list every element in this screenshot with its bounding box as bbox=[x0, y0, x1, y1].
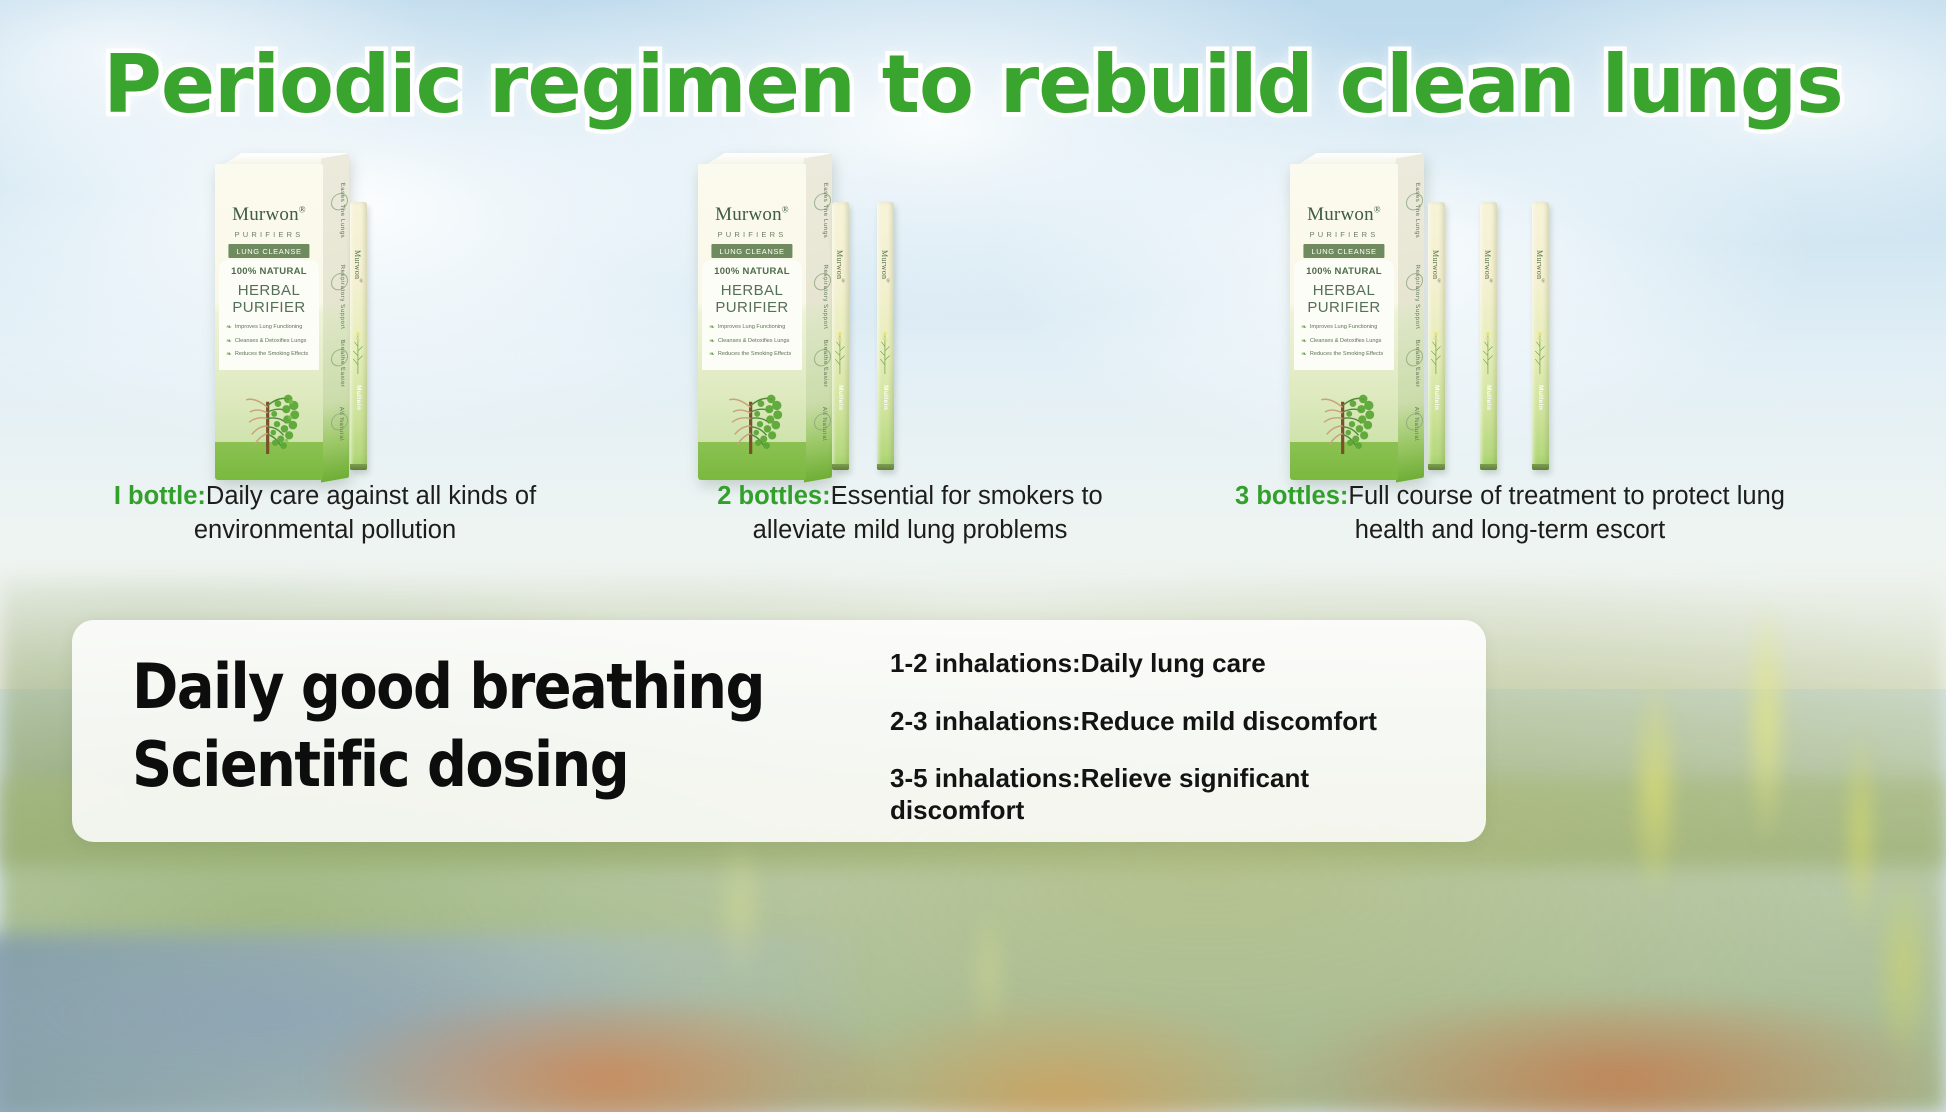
product-groups-row: Eases The Lungs Respiratory Support Brea… bbox=[0, 150, 1946, 590]
carton-product-line1: HERBAL bbox=[1290, 282, 1398, 299]
carton-side-face: Eases The Lungs Respiratory Support Brea… bbox=[321, 154, 349, 483]
herb-sprig-icon bbox=[1429, 328, 1443, 374]
carton-bullet-text: Improves Lung Functioning bbox=[235, 324, 302, 332]
herb-sprig-icon bbox=[351, 328, 365, 374]
carton-bullet-text: Reduces the Smoking Effects bbox=[1310, 351, 1383, 359]
dosing-item: 3-5 inhalations:Relieve significant disc… bbox=[890, 763, 1450, 826]
stick-herb-name: Mullein bbox=[1485, 385, 1492, 410]
leaf-icon: ❧ bbox=[709, 351, 715, 359]
lung-tree-illustration-icon bbox=[704, 370, 797, 454]
carton-bullet: ❧Improves Lung Functioning bbox=[709, 324, 799, 332]
carton-product-line2: PURIFIER bbox=[698, 299, 806, 316]
registered-mark-icon: ® bbox=[359, 279, 364, 284]
registered-mark-icon: ® bbox=[886, 279, 891, 284]
product-carton[interactable]: Eases The Lungs Respiratory Support Brea… bbox=[1290, 164, 1398, 480]
registered-mark-icon: ® bbox=[1437, 279, 1442, 284]
dosing-list: 1-2 inhalations:Daily lung care 2-3 inha… bbox=[890, 648, 1450, 827]
carton-bullet: ❧Reduces the Smoking Effects bbox=[1301, 351, 1391, 359]
carton-front-face: Murwon® PURIFIERS LUNG CLEANSE 100% NATU… bbox=[698, 164, 806, 480]
lung-tree-illustration-icon bbox=[221, 370, 314, 454]
registered-mark-icon: ® bbox=[299, 205, 306, 215]
herb-sprig-icon bbox=[1481, 328, 1495, 374]
carton-natural-claim: 100% NATURAL bbox=[215, 266, 323, 277]
stick-brand-text: Murwon bbox=[880, 250, 889, 279]
group-caption: 2 bottles:Essential for smokers to allev… bbox=[680, 480, 1140, 548]
stick-brand: Murwon® bbox=[353, 250, 364, 285]
carton-side-face: Eases The Lungs Respiratory Support Brea… bbox=[1396, 154, 1424, 483]
carton-brand-text: Murwon bbox=[715, 204, 782, 225]
stick-herb-name: Mullein bbox=[1537, 385, 1544, 410]
leaf-icon: ❧ bbox=[226, 351, 232, 359]
inhaler-stick[interactable]: Murwon® Mullein bbox=[350, 202, 367, 470]
inhaler-stick[interactable]: Murwon® Mullein bbox=[832, 202, 849, 470]
group-count-label: I bottle: bbox=[114, 482, 206, 510]
carton-bullet: ❧Cleanses & Detoxifies Lungs bbox=[709, 338, 799, 346]
carton-side-label: Eases The Lungs bbox=[1414, 182, 1420, 239]
carton-brand: Murwon® bbox=[1290, 204, 1398, 226]
product-stage: Eases The Lungs Respiratory Support Brea… bbox=[680, 150, 1140, 480]
carton-product-line1: HERBAL bbox=[215, 282, 323, 299]
product-carton[interactable]: Eases The Lungs Respiratory Support Brea… bbox=[215, 164, 323, 480]
carton-front-face: Murwon® PURIFIERS LUNG CLEANSE 100% NATU… bbox=[1290, 164, 1398, 480]
carton-bullet-text: Reduces the Smoking Effects bbox=[718, 351, 791, 359]
carton-brand-text: Murwon bbox=[1307, 204, 1374, 225]
stick-brand: Murwon® bbox=[1535, 250, 1546, 285]
carton-side-label: All Natural bbox=[1413, 406, 1419, 441]
carton-front-face: Murwon® PURIFIERS LUNG CLEANSE 100% NATU… bbox=[215, 164, 323, 480]
leaf-icon: ❧ bbox=[226, 324, 232, 332]
carton-side-label: Breathe Easier bbox=[339, 339, 345, 388]
inhaler-stick[interactable]: Murwon® Mullein bbox=[877, 202, 894, 470]
carton-brand: Murwon® bbox=[215, 204, 323, 226]
registered-mark-icon: ® bbox=[1541, 279, 1546, 284]
carton-side-label: Eases The Lungs bbox=[339, 182, 345, 239]
group-description: Daily care against all kinds of environm… bbox=[194, 482, 536, 544]
stick-brand-text: Murwon bbox=[1483, 250, 1492, 279]
leaf-icon: ❧ bbox=[1301, 324, 1307, 332]
product-group-three-bottles: Eases The Lungs Respiratory Support Brea… bbox=[1230, 150, 1790, 590]
leaf-icon: ❧ bbox=[226, 338, 232, 346]
product-stage: Eases The Lungs Respiratory Support Brea… bbox=[1230, 150, 1790, 480]
group-count-label: 3 bottles: bbox=[1235, 482, 1348, 510]
lung-tree-illustration-icon bbox=[1296, 370, 1389, 454]
stick-herb-name: Mullein bbox=[882, 385, 889, 410]
autumn-foliage-layer bbox=[311, 1001, 1946, 1112]
carton-product-line1: HERBAL bbox=[698, 282, 806, 299]
carton-bullet: ❧Cleanses & Detoxifies Lungs bbox=[226, 338, 316, 346]
carton-brand-text: Murwon bbox=[232, 204, 299, 225]
carton-side-label: Eases The Lungs bbox=[822, 182, 828, 239]
carton-bullet: ❧Reduces the Smoking Effects bbox=[226, 351, 316, 359]
carton-sub-brand: PURIFIERS bbox=[215, 230, 323, 239]
carton-side-label: All Natural bbox=[821, 406, 827, 441]
carton-side-label: All Natural bbox=[338, 406, 344, 441]
carton-bullet-text: Improves Lung Functioning bbox=[718, 324, 785, 332]
stick-herb-name: Mullein bbox=[355, 385, 362, 410]
stick-brand: Murwon® bbox=[880, 250, 891, 285]
carton-side-label: Respiratory Support bbox=[822, 264, 828, 330]
registered-mark-icon: ® bbox=[1489, 279, 1494, 284]
carton-badge: LUNG CLEANSE bbox=[1303, 244, 1384, 258]
group-count-label: 2 bottles: bbox=[717, 482, 830, 510]
page-title: Periodic regimen to rebuild clean lungs bbox=[0, 38, 1946, 131]
stick-brand: Murwon® bbox=[1431, 250, 1442, 285]
dosing-item: 1-2 inhalations:Daily lung care bbox=[890, 648, 1450, 680]
leaf-icon: ❧ bbox=[1301, 351, 1307, 359]
carton-natural-claim: 100% NATURAL bbox=[698, 266, 806, 277]
stick-brand-text: Murwon bbox=[835, 250, 844, 279]
carton-badge: LUNG CLEANSE bbox=[711, 244, 792, 258]
carton-bullet: ❧Improves Lung Functioning bbox=[226, 324, 316, 332]
product-group-two-bottles: Eases The Lungs Respiratory Support Brea… bbox=[680, 150, 1140, 590]
carton-side-face: Eases The Lungs Respiratory Support Brea… bbox=[804, 154, 832, 483]
carton-bullet-text: Cleanses & Detoxifies Lungs bbox=[1310, 338, 1382, 346]
carton-bullet: ❧Improves Lung Functioning bbox=[1301, 324, 1391, 332]
carton-bullet-list: ❧Improves Lung Functioning ❧Cleanses & D… bbox=[709, 324, 799, 365]
carton-badge: LUNG CLEANSE bbox=[228, 244, 309, 258]
group-description: Full course of treatment to protect lung… bbox=[1348, 482, 1785, 544]
panel-heading-line2: Scientific dosing bbox=[132, 726, 862, 804]
dosing-panel: Daily good breathing Scientific dosing 1… bbox=[72, 620, 1486, 842]
carton-bullet-text: Improves Lung Functioning bbox=[1310, 324, 1377, 332]
leaf-icon: ❧ bbox=[709, 338, 715, 346]
registered-mark-icon: ® bbox=[1374, 205, 1381, 215]
inhaler-stick[interactable]: Murwon® Mullein bbox=[1428, 202, 1445, 470]
product-stage: Eases The Lungs Respiratory Support Brea… bbox=[95, 150, 555, 480]
carton-bullet-text: Cleanses & Detoxifies Lungs bbox=[718, 338, 790, 346]
leaf-icon: ❧ bbox=[709, 324, 715, 332]
carton-bullet: ❧Cleanses & Detoxifies Lungs bbox=[1301, 338, 1391, 346]
stick-brand-text: Murwon bbox=[353, 250, 362, 279]
inhaler-stick[interactable]: Murwon® Mullein bbox=[1532, 202, 1549, 470]
panel-heading-line1: Daily good breathing bbox=[132, 648, 862, 726]
stick-herb-name: Mullein bbox=[1433, 385, 1440, 410]
carton-product-line2: PURIFIER bbox=[215, 299, 323, 316]
stick-brand: Murwon® bbox=[835, 250, 846, 285]
group-caption: I bottle:Daily care against all kinds of… bbox=[95, 480, 555, 548]
carton-bullet: ❧Reduces the Smoking Effects bbox=[709, 351, 799, 359]
carton-product-line2: PURIFIER bbox=[1290, 299, 1398, 316]
registered-mark-icon: ® bbox=[841, 279, 846, 284]
group-caption: 3 bottles:Full course of treatment to pr… bbox=[1230, 480, 1790, 548]
carton-side-label: Breathe Easier bbox=[822, 339, 828, 388]
carton-bullet-list: ❧Improves Lung Functioning ❧Cleanses & D… bbox=[226, 324, 316, 365]
carton-bullet-text: Cleanses & Detoxifies Lungs bbox=[235, 338, 307, 346]
herb-sprig-icon bbox=[878, 328, 892, 374]
carton-side-label: Respiratory Support bbox=[1414, 264, 1420, 330]
carton-sub-brand: PURIFIERS bbox=[1290, 230, 1398, 239]
inhaler-stick[interactable]: Murwon® Mullein bbox=[1480, 202, 1497, 470]
herb-sprig-icon bbox=[1533, 328, 1547, 374]
carton-bullet-list: ❧Improves Lung Functioning ❧Cleanses & D… bbox=[1301, 324, 1391, 365]
carton-natural-claim: 100% NATURAL bbox=[1290, 266, 1398, 277]
herb-sprig-icon bbox=[833, 328, 847, 374]
panel-heading: Daily good breathing Scientific dosing bbox=[132, 648, 862, 804]
carton-bullet-text: Reduces the Smoking Effects bbox=[235, 351, 308, 359]
carton-side-label: Respiratory Support bbox=[339, 264, 345, 330]
carton-brand: Murwon® bbox=[698, 204, 806, 226]
product-carton[interactable]: Eases The Lungs Respiratory Support Brea… bbox=[698, 164, 806, 480]
leaf-icon: ❧ bbox=[1301, 338, 1307, 346]
carton-sub-brand: PURIFIERS bbox=[698, 230, 806, 239]
dosing-item: 2-3 inhalations:Reduce mild discomfort bbox=[890, 706, 1450, 738]
product-group-one-bottle: Eases The Lungs Respiratory Support Brea… bbox=[95, 150, 555, 590]
stick-brand-text: Murwon bbox=[1431, 250, 1440, 279]
stick-herb-name: Mullein bbox=[837, 385, 844, 410]
registered-mark-icon: ® bbox=[782, 205, 789, 215]
stick-brand-text: Murwon bbox=[1535, 250, 1544, 279]
stick-brand: Murwon® bbox=[1483, 250, 1494, 285]
carton-side-label: Breathe Easier bbox=[1414, 339, 1420, 388]
